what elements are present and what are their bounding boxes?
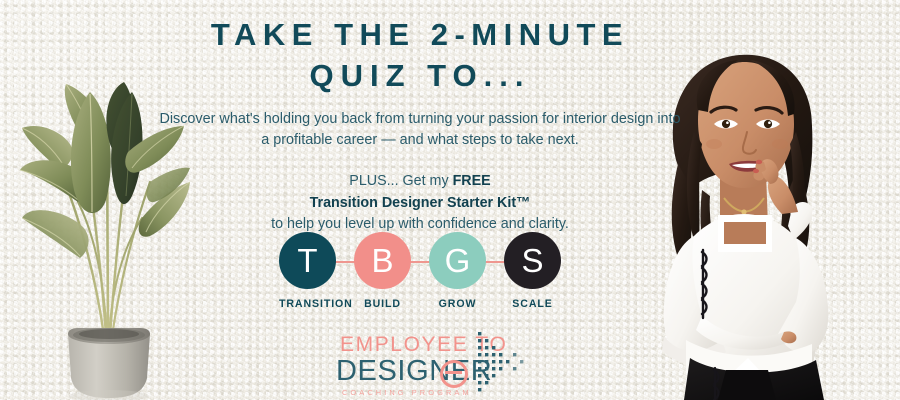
step-label-build: BUILD [354,298,411,310]
bonus-offer-text: PLUS... Get my FREE Transition Designer … [150,171,690,236]
step-grow[interactable]: G GROW [429,232,486,310]
headline-line-2: QUIZ TO... [150,55,690,96]
bonus-line-3: to help you level up with confidence and… [271,216,569,232]
subheadline-text: Discover what's holding you back from tu… [150,109,690,151]
step-label-grow: GROW [429,298,486,310]
step-label-scale: SCALE [504,298,561,310]
quiz-promo-banner: TAKE THE 2-MINUTE QUIZ TO... Discover wh… [0,0,900,400]
step-transition[interactable]: T TRANSITION [279,232,336,310]
brand-logo[interactable]: EMPLOYEE TO DESIGNER COACHING PROGRAM [336,334,536,396]
logo-wordmark: DESIGNER [336,355,492,387]
step-build[interactable]: B BUILD [354,232,411,310]
bonus-kit-name: Transition Designer Starter Kit™ [150,193,690,215]
headline-line-1: TAKE THE 2-MINUTE [211,17,629,52]
step-circle-b: B [354,232,411,289]
step-circle-g: G [429,232,486,289]
step-scale[interactable]: S SCALE [504,232,561,310]
step-circle-s: S [504,232,561,289]
step-label-transition: TRANSITION [279,298,336,310]
tbgs-framework: T TRANSITION B BUILD G GROW S SCALE [150,232,690,328]
bonus-line-1-prefix: PLUS... Get my [349,173,452,189]
logo-e-accent-icon [440,360,468,388]
bonus-free-emphasis: FREE [453,173,491,189]
tbgs-row: T TRANSITION B BUILD G GROW S SCALE [150,232,690,310]
dotted-arrow-icon [476,330,538,392]
page-title: TAKE THE 2-MINUTE QUIZ TO... [150,0,690,96]
step-circle-t: T [279,232,336,289]
